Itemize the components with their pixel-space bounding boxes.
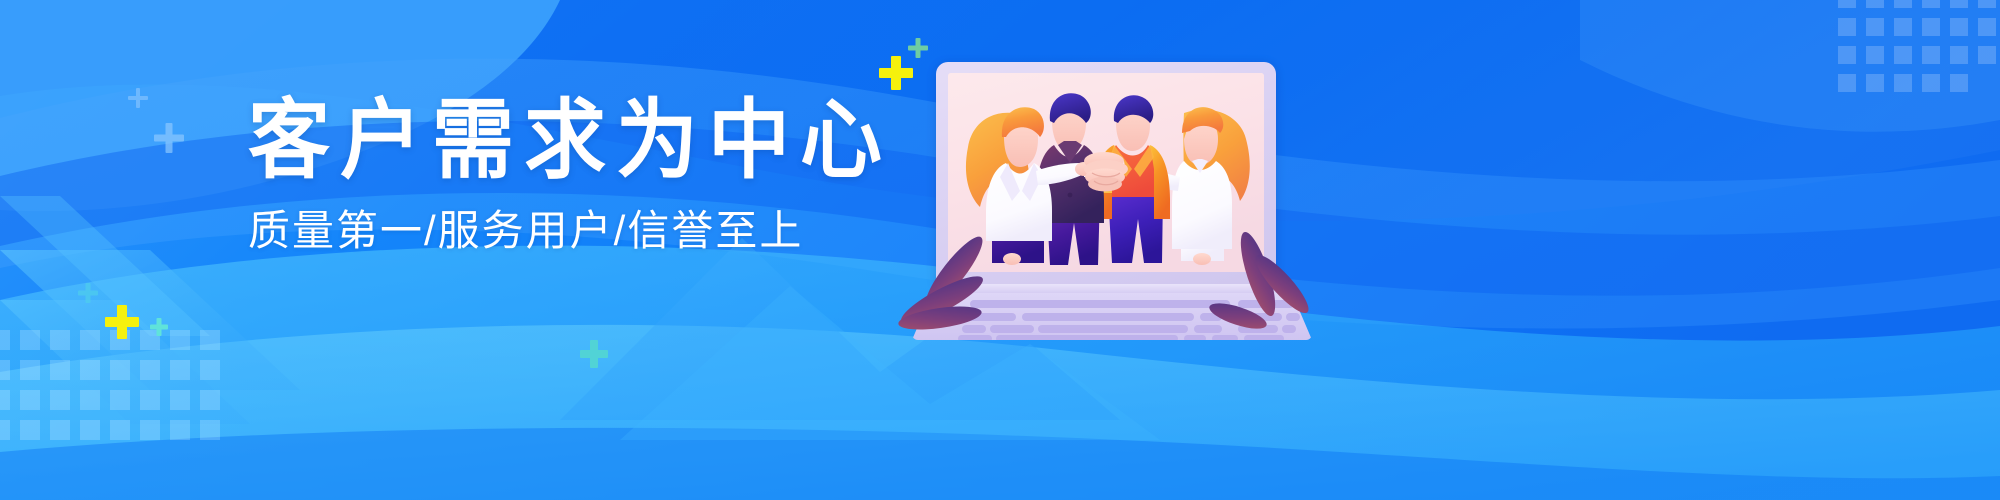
grid-dot xyxy=(140,360,160,380)
grid-dot xyxy=(1838,74,1856,92)
grid-dot xyxy=(50,420,70,440)
grid-dot xyxy=(170,420,190,440)
grid-dot xyxy=(20,390,40,410)
page-subtitle: 质量第一/服务用户/信誉至上 xyxy=(248,210,868,252)
hand-stack-bottom xyxy=(1088,177,1122,192)
grid-dot xyxy=(1978,0,1996,8)
leaf-cluster-right xyxy=(1208,212,1328,340)
grid-dot xyxy=(20,420,40,440)
dot-grid-top-right xyxy=(1838,0,2000,92)
keyboard-key xyxy=(996,335,1178,342)
grid-dot xyxy=(1838,46,1856,64)
grid-dot xyxy=(1922,18,1940,36)
keyboard-key xyxy=(1038,325,1188,333)
grid-dot xyxy=(170,360,190,380)
grid-dot xyxy=(110,390,130,410)
grid-dot xyxy=(80,390,100,410)
grid-dot xyxy=(200,330,220,350)
grid-dot xyxy=(200,360,220,380)
grid-dot xyxy=(80,330,100,350)
grid-dot xyxy=(80,420,100,440)
grid-dot xyxy=(80,360,100,380)
promo-banner: 客户需求为中心 质量第一/服务用户/信誉至上 xyxy=(0,0,2000,500)
grid-dot xyxy=(1950,18,1968,36)
grid-dot xyxy=(1866,18,1884,36)
leaf-cluster-left xyxy=(886,214,1016,340)
grid-dot xyxy=(1894,18,1912,36)
plus-cyan-small-bottom xyxy=(150,318,168,336)
grid-dot xyxy=(200,390,220,410)
grid-dot xyxy=(1950,0,1968,8)
grid-dot xyxy=(1866,74,1884,92)
grid-dot xyxy=(20,360,40,380)
grid-dot xyxy=(1894,0,1912,8)
grid-dot xyxy=(1978,18,1996,36)
keyboard-key xyxy=(1022,313,1194,321)
plus-yellow-large-top xyxy=(879,56,913,90)
grid-dot xyxy=(1838,18,1856,36)
grid-dot xyxy=(1922,74,1940,92)
grid-dot xyxy=(170,330,190,350)
grid-dot xyxy=(50,390,70,410)
grid-dot xyxy=(50,330,70,350)
laptop-illustration xyxy=(912,62,1312,352)
grid-dot xyxy=(1866,46,1884,64)
keyboard-key xyxy=(1184,335,1206,342)
grid-dot xyxy=(0,420,10,440)
grid-dot xyxy=(20,330,40,350)
grid-dot xyxy=(140,390,160,410)
grid-dot xyxy=(1950,74,1968,92)
grid-dot xyxy=(1866,0,1884,8)
plus-cyan-teal-right xyxy=(580,340,608,368)
stacked-hands xyxy=(1084,152,1128,192)
grid-dot xyxy=(0,390,10,410)
page-title: 客户需求为中心 xyxy=(248,98,868,185)
plus-small-top-left xyxy=(128,88,148,108)
headline-block: 客户需求为中心 质量第一/服务用户/信誉至上 xyxy=(248,98,868,252)
button xyxy=(1068,193,1073,198)
dot-grid-bottom-left xyxy=(0,330,220,440)
grid-dot xyxy=(1838,0,1856,8)
grid-dot xyxy=(50,360,70,380)
grid-dot xyxy=(140,420,160,440)
plus-yellow-large-bottom xyxy=(105,305,139,339)
grid-dot xyxy=(0,330,10,350)
grid-dot xyxy=(110,360,130,380)
grid-dot xyxy=(1978,46,1996,64)
grid-dot xyxy=(0,360,10,380)
grid-dot xyxy=(1950,46,1968,64)
grid-dot xyxy=(170,390,190,410)
plus-green-small-top xyxy=(908,38,928,58)
grid-dot xyxy=(200,420,220,440)
plus-medium-left xyxy=(154,123,184,153)
plus-cyan-faint-bottom xyxy=(78,283,98,303)
grid-dot xyxy=(1894,46,1912,64)
grid-dot xyxy=(1922,0,1940,8)
grid-dot xyxy=(1922,46,1940,64)
grid-dot xyxy=(1894,74,1912,92)
grid-dot xyxy=(110,420,130,440)
